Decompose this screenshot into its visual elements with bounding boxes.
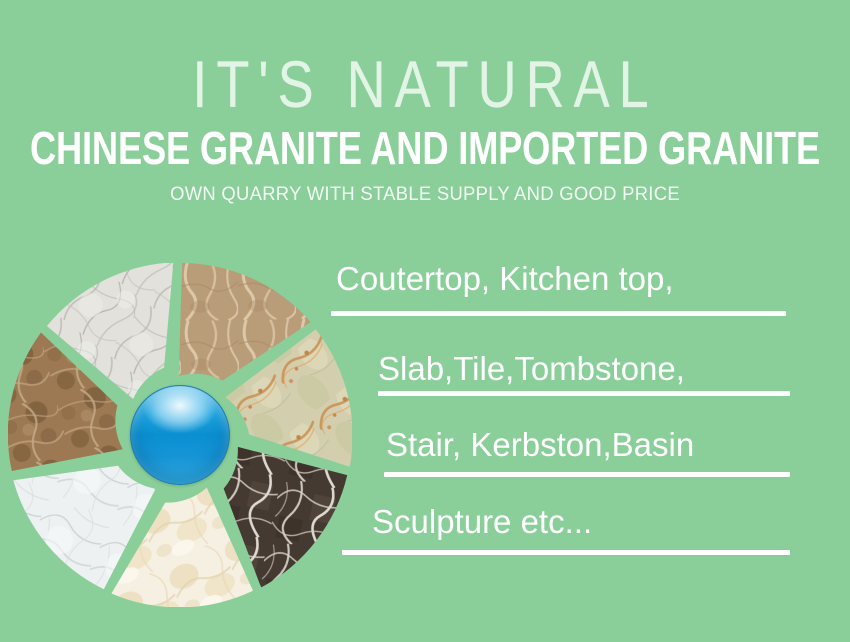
page-title: CHINESE GRANITE AND IMPORTED GRANITE [30, 126, 821, 172]
product-line-3: Stair, Kerbston,Basin [386, 428, 694, 461]
subtitle: OWN QUARRY WITH STABLE SUPPLY AND GOOD P… [13, 185, 838, 204]
product-rule-3 [384, 472, 790, 477]
granite-banner: IT'S NATURAL CHINESE GRANITE AND IMPORTE… [0, 0, 850, 642]
product-rule-2 [378, 391, 790, 396]
product-rule-4 [342, 550, 790, 555]
wheel-center-sphere [130, 385, 230, 485]
product-line-4: Sculpture etc... [372, 505, 592, 538]
product-rule-1 [331, 311, 786, 316]
product-line-2: Slab,Tile,Tombstone, [378, 352, 685, 385]
product-line-1: Coutertop, Kitchen top, [336, 262, 674, 295]
eyebrow-heading: IT'S NATURAL [0, 52, 850, 118]
